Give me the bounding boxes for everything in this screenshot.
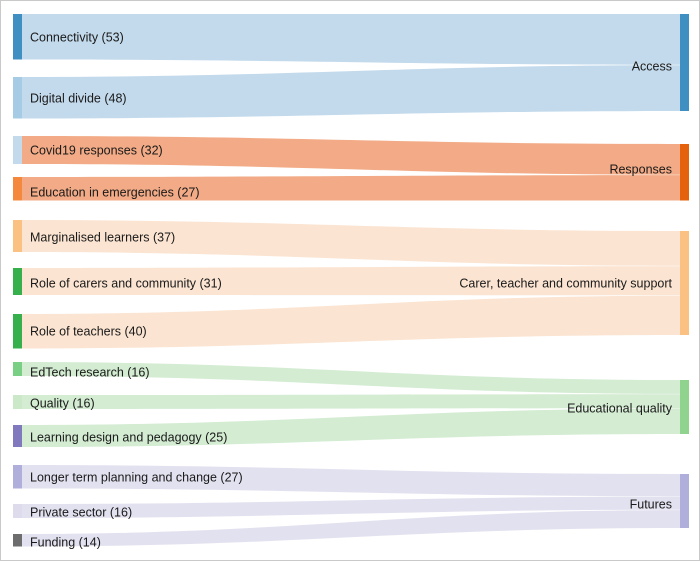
sankey-node-label-learning: Learning design and pedagogy (25) [30,431,227,445]
sankey-node-marginalised[interactable] [13,220,22,252]
sankey-node-label-carers: Role of carers and community (31) [30,277,222,291]
sankey-node-connectivity[interactable] [13,14,22,60]
sankey-node-label-edtech: EdTech research (16) [30,366,150,380]
sankey-node-futures[interactable] [680,474,689,528]
sankey-node-label-access: Access [632,60,672,74]
sankey-node-learning[interactable] [13,425,22,447]
sankey-node-emergencies[interactable] [13,177,22,201]
sankey-node-longer-term[interactable] [13,465,22,489]
sankey-node-label-marginalised: Marginalised learners (37) [30,231,175,245]
sankey-diagram-container: Connectivity (53)Digital divide (48)Covi… [0,0,700,561]
sankey-node-responses[interactable] [680,144,689,201]
sankey-node-label-responses: Responses [609,163,672,177]
sankey-node-funding[interactable] [13,534,22,547]
sankey-node-carers[interactable] [13,268,22,295]
sankey-node-label-eduqual: Educational quality [567,402,673,416]
sankey-node-label-covid19: Covid19 responses (32) [30,144,163,158]
sankey-node-label-funding: Funding (14) [30,536,101,550]
sankey-node-label-longer-term: Longer term planning and change (27) [30,471,243,485]
sankey-node-label-emergencies: Education in emergencies (27) [30,186,200,200]
sankey-node-label-connectivity: Connectivity (53) [30,31,124,45]
sankey-node-carer[interactable] [680,231,689,335]
sankey-node-private-sector[interactable] [13,504,22,518]
sankey-node-quality[interactable] [13,395,22,409]
sankey-node-label-private-sector: Private sector (16) [30,506,132,520]
sankey-node-teachers[interactable] [13,314,22,349]
sankey-node-label-futures: Futures [630,498,672,512]
sankey-link-teachers-to-carer[interactable] [22,296,680,349]
sankey-node-eduqual[interactable] [680,380,689,434]
sankey-node-label-quality: Quality (16) [30,397,95,411]
sankey-chart: Connectivity (53)Digital divide (48)Covi… [1,1,700,561]
sankey-node-covid19[interactable] [13,136,22,164]
sankey-node-access[interactable] [680,14,689,111]
sankey-node-label-teachers: Role of teachers (40) [30,325,147,339]
sankey-node-digital-divide[interactable] [13,77,22,119]
sankey-node-label-digital-divide: Digital divide (48) [30,92,127,106]
sankey-node-edtech[interactable] [13,362,22,376]
sankey-node-label-carer: Carer, teacher and community support [459,277,672,291]
